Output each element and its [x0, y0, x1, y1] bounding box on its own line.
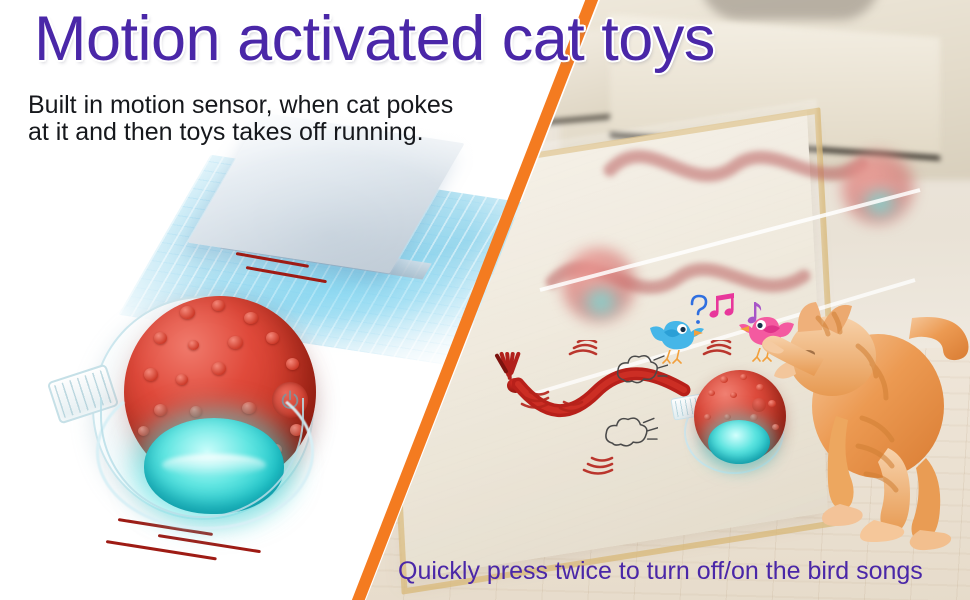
- dust-puff-upper: [608, 350, 668, 398]
- dust-puff-lower: [596, 412, 658, 462]
- cat-toy-ball-product: [40, 278, 330, 548]
- bottom-caption: Quickly press twice to turn off/on the b…: [398, 558, 923, 586]
- blue-bird-feet: [662, 350, 688, 364]
- cat-standing-paw: [822, 504, 863, 526]
- toy-led-glow: [708, 420, 770, 464]
- promo-banner: Motion activated cat toys Built in motio…: [0, 0, 970, 600]
- cat-rear-paw: [910, 530, 951, 550]
- page-title: Motion activated cat toys: [34, 8, 944, 71]
- subtitle-text: Built in motion sensor, when cat pokes a…: [28, 92, 453, 146]
- cat-rear-leg: [912, 458, 941, 542]
- music-notes-group: [686, 292, 770, 334]
- orange-tabby-cat: [762, 298, 970, 554]
- cat-illustration: [762, 298, 970, 554]
